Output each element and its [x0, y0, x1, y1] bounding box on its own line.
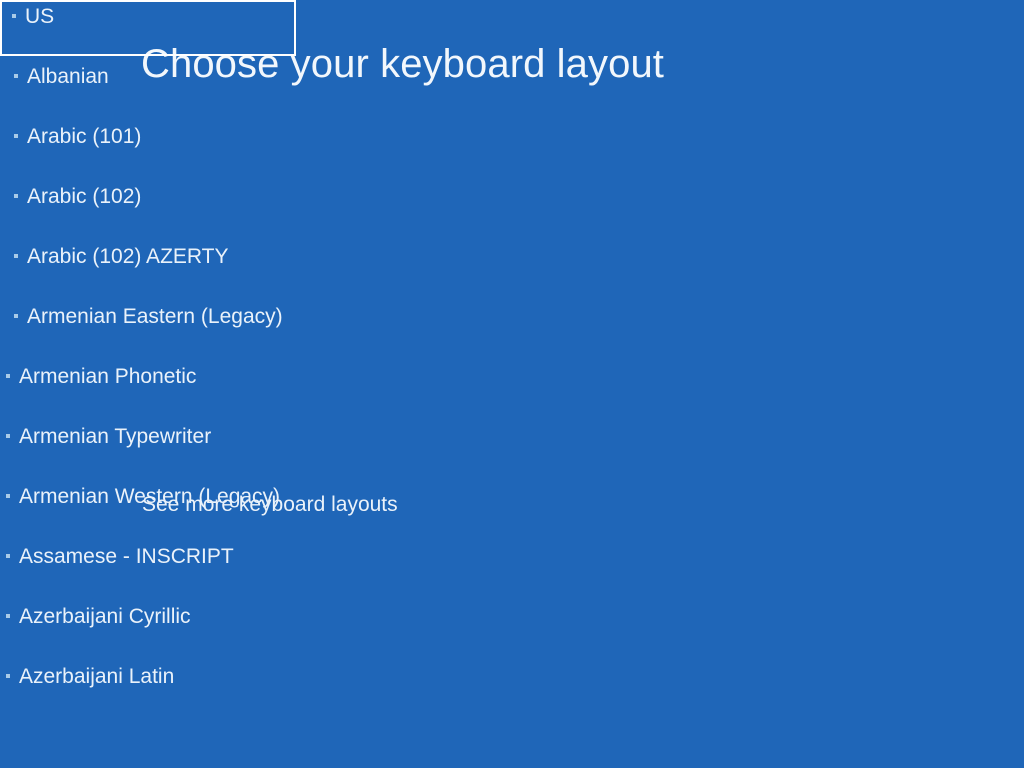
choose-keyboard-layout-screen: Choose your keyboard layout USAlbanianAr…: [0, 0, 1024, 768]
keyboard-layout-item-arabic-102-azerty[interactable]: Arabic (102) AZERTY: [0, 240, 296, 296]
bullet-icon: [14, 134, 18, 138]
keyboard-layout-list-right: Armenian PhoneticArmenian TypewriterArme…: [0, 360, 420, 716]
keyboard-layout-item-albanian[interactable]: Albanian: [0, 60, 296, 116]
keyboard-layout-label: Albanian: [27, 64, 109, 90]
bullet-icon: [6, 494, 10, 498]
bullet-icon: [14, 314, 18, 318]
bullet-icon: [14, 254, 18, 258]
bullet-icon: [6, 674, 10, 678]
keyboard-layout-item-azerbaijani-latin[interactable]: Azerbaijani Latin: [0, 660, 420, 716]
keyboard-layout-item-armenian-phonetic[interactable]: Armenian Phonetic: [0, 360, 420, 416]
keyboard-layout-item-us[interactable]: US: [0, 0, 296, 56]
bullet-icon: [12, 14, 16, 18]
keyboard-layout-label: Azerbaijani Cyrillic: [19, 604, 191, 630]
keyboard-layout-label: US: [25, 4, 54, 30]
keyboard-layout-item-arabic-101[interactable]: Arabic (101): [0, 120, 296, 176]
keyboard-layout-item-armenian-eastern-legacy[interactable]: Armenian Eastern (Legacy): [0, 300, 296, 356]
keyboard-layout-label: Armenian Eastern (Legacy): [27, 304, 283, 330]
keyboard-layout-label: Azerbaijani Latin: [19, 664, 174, 690]
see-more-keyboard-layouts-link[interactable]: See more keyboard layouts: [142, 492, 398, 518]
bullet-icon: [6, 614, 10, 618]
keyboard-layout-list-left: USAlbanianArabic (101)Arabic (102)Arabic…: [0, 0, 296, 356]
keyboard-layout-label: Arabic (101): [27, 124, 141, 150]
keyboard-layout-label: Arabic (102): [27, 184, 141, 210]
keyboard-layout-item-assamese-inscript[interactable]: Assamese - INSCRIPT: [0, 540, 420, 596]
bullet-icon: [6, 554, 10, 558]
bullet-icon: [6, 434, 10, 438]
keyboard-layout-label: Assamese - INSCRIPT: [19, 544, 234, 570]
keyboard-layout-item-azerbaijani-cyrillic[interactable]: Azerbaijani Cyrillic: [0, 600, 420, 656]
keyboard-layout-label: Arabic (102) AZERTY: [27, 244, 229, 270]
keyboard-layout-label: Armenian Phonetic: [19, 364, 196, 390]
bullet-icon: [14, 194, 18, 198]
keyboard-layout-item-arabic-102[interactable]: Arabic (102): [0, 180, 296, 236]
keyboard-layout-label: Armenian Typewriter: [19, 424, 211, 450]
keyboard-layout-item-armenian-typewriter[interactable]: Armenian Typewriter: [0, 420, 420, 476]
bullet-icon: [6, 374, 10, 378]
bullet-icon: [14, 74, 18, 78]
